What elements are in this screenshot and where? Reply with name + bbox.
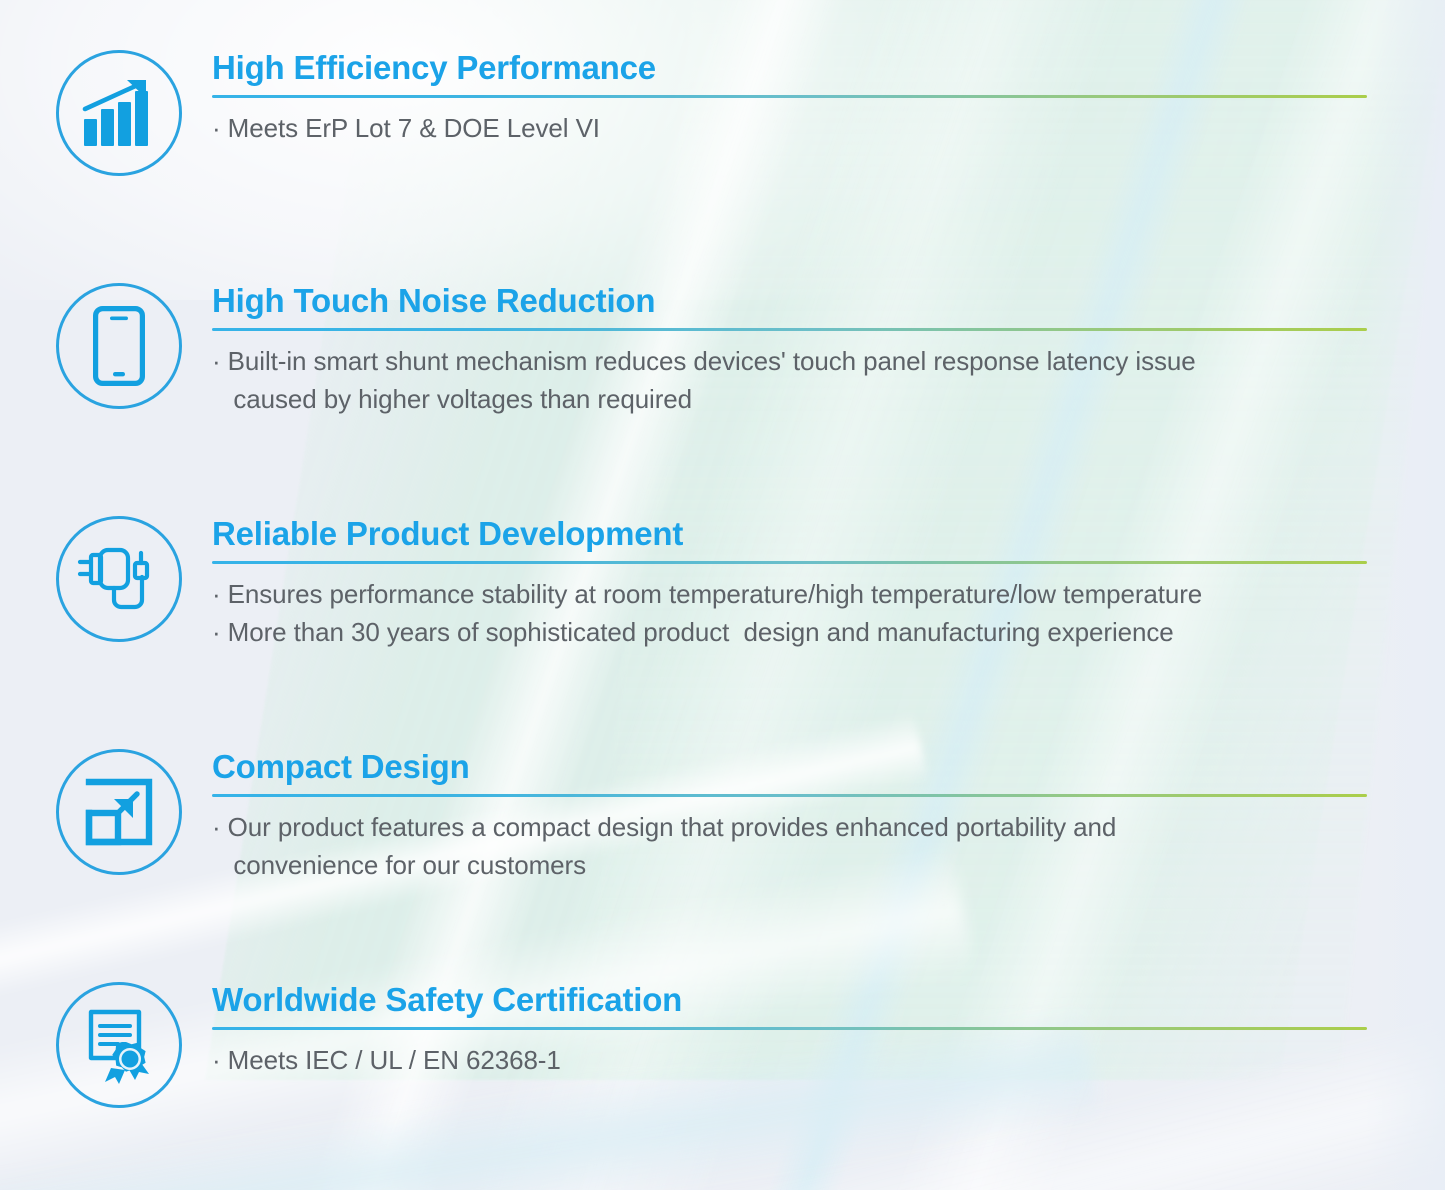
feature-title: High Touch Noise Reduction <box>212 283 1367 319</box>
feature-bullet-line: · Built-in smart shunt mechanism reduces… <box>212 342 1367 380</box>
feature-title: Compact Design <box>212 749 1367 785</box>
feature-body: High Touch Noise Reduction · Built-in sm… <box>212 283 1367 419</box>
background-right-edge-gradient <box>1365 0 1445 1190</box>
feature-bullet-line: · More than 30 years of sophisticated pr… <box>212 613 1367 651</box>
feature-description: · Our product features a compact design … <box>212 808 1367 885</box>
feature-title: High Efficiency Performance <box>212 50 1367 86</box>
feature-divider <box>212 794 1367 797</box>
feature-divider <box>212 561 1367 564</box>
feature-bullet-line: caused by higher voltages than required <box>212 380 1367 418</box>
feature-title: Worldwide Safety Certification <box>212 982 1367 1018</box>
feature-description: · Meets ErP Lot 7 & DOE Level VI <box>212 109 1367 147</box>
feature-description: · Ensures performance stability at room … <box>212 575 1367 652</box>
feature-title: Reliable Product Development <box>212 516 1367 552</box>
feature-body: Worldwide Safety Certification · Meets I… <box>212 982 1367 1079</box>
bar-chart-growth-icon <box>56 50 182 176</box>
certificate-award-icon <box>56 982 182 1108</box>
feature-divider <box>212 328 1367 331</box>
feature-divider <box>212 95 1367 98</box>
feature-description: · Built-in smart shunt mechanism reduces… <box>212 342 1367 419</box>
compact-resize-icon <box>56 749 182 875</box>
feature-highlights-page: High Efficiency Performance · Meets ErP … <box>0 0 1445 1190</box>
feature-bullet-line: · Meets ErP Lot 7 & DOE Level VI <box>212 109 1367 147</box>
feature-description: · Meets IEC / UL / EN 62368-1 <box>212 1041 1367 1079</box>
smartphone-icon <box>56 283 182 409</box>
feature-divider <box>212 1027 1367 1030</box>
feature-body: Reliable Product Development · Ensures p… <box>212 516 1367 652</box>
feature-bullet-line: convenience for our customers <box>212 846 1367 884</box>
feature-bullet-line: · Our product features a compact design … <box>212 808 1367 846</box>
feature-body: High Efficiency Performance · Meets ErP … <box>212 50 1367 147</box>
feature-bullet-line: · Ensures performance stability at room … <box>212 575 1367 613</box>
feature-bullet-line: · Meets IEC / UL / EN 62368-1 <box>212 1041 1367 1079</box>
power-adapter-icon <box>56 516 182 642</box>
feature-body: Compact Design · Our product features a … <box>212 749 1367 885</box>
